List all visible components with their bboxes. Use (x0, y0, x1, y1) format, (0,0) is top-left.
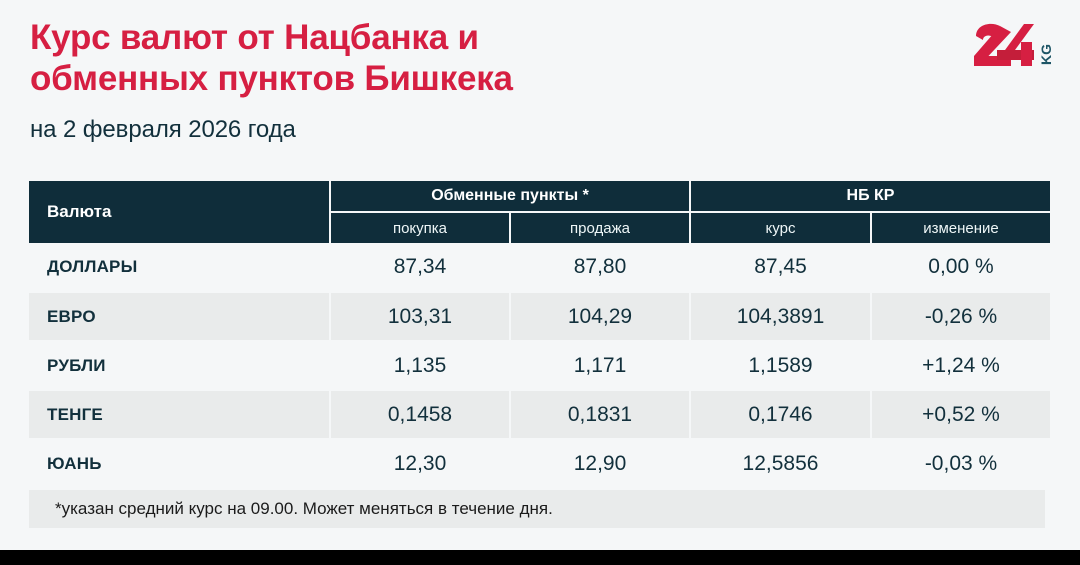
brand-logo-24kg: KG (966, 20, 1058, 82)
page-title-line-2: обменных пунктов Бишкека (30, 59, 860, 100)
cell-sell: 0,1831 (510, 390, 690, 439)
cell-currency: ТЕНГЕ (29, 390, 330, 439)
cell-change: +0,52 % (871, 390, 1050, 439)
cell-rate: 104,3891 (690, 292, 871, 341)
currency-rates-table: Валюта Обменные пункты * НБ КР покупка п… (29, 181, 1050, 488)
page-subtitle-date: на 2 февраля 2026 года (30, 116, 860, 144)
column-group-exchange-points: Обменные пункты * (330, 181, 690, 212)
column-header-buy: покупка (330, 212, 510, 243)
title-block: Курс валют от Нацбанка и обменных пункто… (30, 18, 860, 144)
cell-sell: 87,80 (510, 243, 690, 292)
cell-buy: 103,31 (330, 292, 510, 341)
table-row: РУБЛИ 1,135 1,171 1,1589 +1,24 % (29, 341, 1050, 390)
cell-buy: 0,1458 (330, 390, 510, 439)
cell-change: +1,24 % (871, 341, 1050, 390)
column-header-currency: Валюта (29, 181, 330, 243)
bottom-black-bar (0, 550, 1080, 565)
cell-change: 0,00 % (871, 243, 1050, 292)
cell-buy: 1,135 (330, 341, 510, 390)
cell-change: -0,26 % (871, 292, 1050, 341)
svg-text:KG: KG (1038, 44, 1054, 65)
cell-rate: 12,5856 (690, 439, 871, 488)
cell-rate: 1,1589 (690, 341, 871, 390)
page-title: Курс валют от Нацбанка и обменных пункто… (30, 18, 860, 100)
cell-sell: 1,171 (510, 341, 690, 390)
column-header-rate: курс (690, 212, 871, 243)
table-header: Валюта Обменные пункты * НБ КР покупка п… (29, 181, 1050, 243)
column-header-change: изменение (871, 212, 1050, 243)
cell-currency: РУБЛИ (29, 341, 330, 390)
table-row: ЕВРО 103,31 104,29 104,3891 -0,26 % (29, 292, 1050, 341)
table-row: ТЕНГЕ 0,1458 0,1831 0,1746 +0,52 % (29, 390, 1050, 439)
cell-rate: 0,1746 (690, 390, 871, 439)
cell-currency: ЮАНЬ (29, 439, 330, 488)
logo-24kg-icon: KG (966, 20, 1058, 82)
page-title-line-1: Курс валют от Нацбанка и (30, 18, 860, 59)
cell-currency: ДОЛЛАРЫ (29, 243, 330, 292)
table-row: ЮАНЬ 12,30 12,90 12,5856 -0,03 % (29, 439, 1050, 488)
cell-change: -0,03 % (871, 439, 1050, 488)
column-header-sell: продажа (510, 212, 690, 243)
cell-buy: 12,30 (330, 439, 510, 488)
cell-buy: 87,34 (330, 243, 510, 292)
cell-sell: 104,29 (510, 292, 690, 341)
cell-sell: 12,90 (510, 439, 690, 488)
footnote-bar: *указан средний курс на 09.00. Может мен… (29, 490, 1045, 528)
column-group-nbkr: НБ КР (690, 181, 1050, 212)
page-header: Курс валют от Нацбанка и обменных пункто… (0, 0, 1080, 170)
cell-rate: 87,45 (690, 243, 871, 292)
table-header-row-groups: Валюта Обменные пункты * НБ КР (29, 181, 1050, 212)
footnote-text: *указан средний курс на 09.00. Может мен… (55, 499, 553, 519)
cell-currency: ЕВРО (29, 292, 330, 341)
table-row: ДОЛЛАРЫ 87,34 87,80 87,45 0,00 % (29, 243, 1050, 292)
table-body: ДОЛЛАРЫ 87,34 87,80 87,45 0,00 % ЕВРО 10… (29, 243, 1050, 488)
